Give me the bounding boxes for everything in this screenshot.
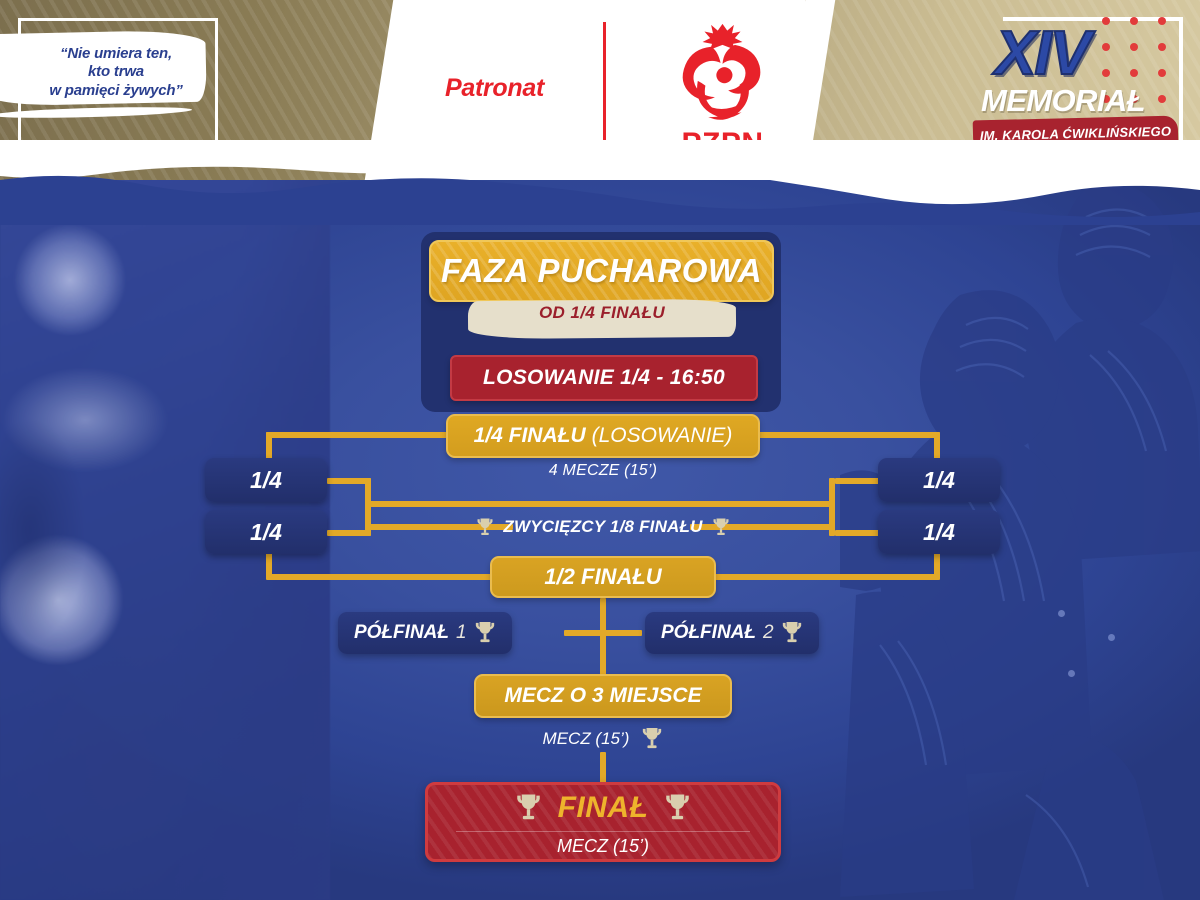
connector-semifinal-vertical: [600, 598, 606, 676]
semifinal-1-box[interactable]: PÓŁFINAŁ 1: [338, 612, 512, 654]
final-box[interactable]: FINAŁ MECZ (15’): [425, 782, 781, 862]
quarter-final-header-box: 1/4 FINAŁU (LOSOWANIE): [446, 414, 760, 458]
connector-left-to-center-upper: [365, 501, 835, 507]
phase-title-box: FAZA PUCHAROWA: [429, 240, 774, 302]
trophy-icon: [712, 517, 730, 538]
quarter-slot-2[interactable]: 1/4: [205, 510, 327, 554]
third-place-note-row: MECZ (15’): [474, 726, 732, 752]
final-label: FINAŁ: [558, 791, 649, 825]
tournament-bracket-poster: “Nie umiera ten, kto trwa w pamięci żywy…: [0, 0, 1200, 900]
quarter-final-draw-note: (LOSOWANIE): [592, 424, 733, 448]
connector-qf-right-vertical: [934, 432, 940, 460]
connector-left-half-horizontal: [266, 574, 492, 580]
phase-title: FAZA PUCHAROWA: [441, 252, 762, 290]
winners-note: ZWYCIĘZCY 1/8 FINAŁU: [503, 517, 702, 537]
connector-right-q4-stub: [835, 530, 879, 536]
final-note: MECZ (15’): [428, 832, 778, 857]
half-final-label: 1/2 FINAŁU: [544, 564, 661, 590]
bracket-stage: FAZA PUCHAROWA OD 1/4 FINAŁU LOSOWANIE 1…: [0, 0, 1200, 900]
trophy-icon: [515, 792, 542, 824]
quarter-slot-1[interactable]: 1/4: [205, 458, 327, 502]
phase-subtitle: OD 1/4 FINAŁU: [468, 303, 736, 323]
quarter-slot-4[interactable]: 1/4: [878, 510, 1000, 554]
draw-time-label: LOSOWANIE 1/4 - 16:50: [483, 366, 725, 390]
winners-note-row: ZWYCIĘZCY 1/8 FINAŁU: [430, 508, 776, 546]
connector-qf-left-horizontal: [266, 432, 448, 438]
quarter-slot-label: 1/4: [923, 519, 955, 546]
final-title-row: FINAŁ: [428, 785, 778, 831]
semifinal-label: PÓŁFINAŁ: [661, 622, 756, 644]
connector-third-to-final: [600, 752, 606, 784]
semifinal-number: 2: [763, 622, 774, 644]
half-final-header-box: 1/2 FINAŁU: [490, 556, 716, 598]
quarter-final-label: 1/4 FINAŁU: [474, 424, 586, 448]
trophy-icon: [641, 726, 663, 752]
quarter-slot-label: 1/4: [250, 519, 282, 546]
quarter-final-matches-note: 4 MECZE (15’): [446, 462, 760, 480]
quarter-slot-label: 1/4: [923, 467, 955, 494]
semifinal-number: 1: [456, 622, 467, 644]
connector-semifinal-horizontal: [564, 630, 642, 636]
third-place-box[interactable]: MECZ O 3 MIEJSCE: [474, 674, 732, 718]
connector-right-half-horizontal: [714, 574, 940, 580]
third-place-label: MECZ O 3 MIEJSCE: [504, 684, 701, 708]
trophy-icon: [474, 620, 496, 646]
connector-qf-left-vertical: [266, 432, 272, 460]
semifinal-2-box[interactable]: PÓŁFINAŁ 2: [645, 612, 819, 654]
quarter-slot-label: 1/4: [250, 467, 282, 494]
third-place-note: MECZ (15’): [543, 729, 630, 749]
trophy-icon: [664, 792, 691, 824]
quarter-slot-3[interactable]: 1/4: [878, 458, 1000, 502]
connector-qf-right-horizontal: [758, 432, 940, 438]
draw-time-banner: LOSOWANIE 1/4 - 16:50: [450, 355, 758, 401]
connector-right-q3-stub: [835, 478, 879, 484]
trophy-icon: [476, 517, 494, 538]
trophy-icon: [781, 620, 803, 646]
semifinal-label: PÓŁFINAŁ: [354, 622, 449, 644]
